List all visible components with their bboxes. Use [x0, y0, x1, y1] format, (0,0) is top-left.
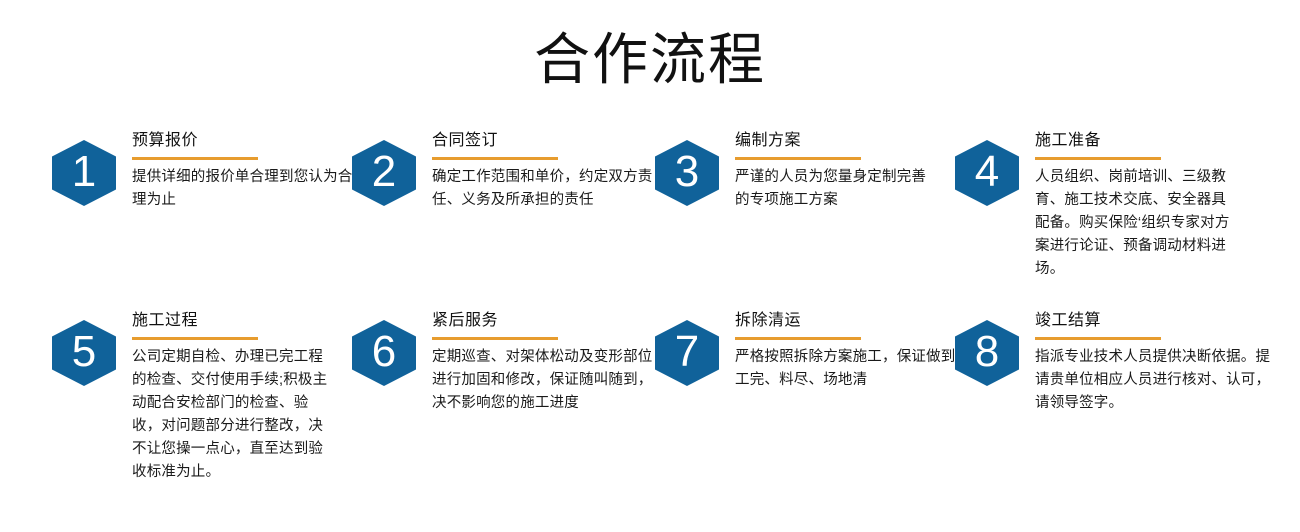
step-title-6: 紧后服务 — [432, 310, 642, 332]
step-hexagon-badge-7: 7 — [655, 320, 719, 386]
step-item-8[interactable]: 8 竣工结算 指派专业技术人员提供决断依据。提请贵单位相应人员进行核对、认可，请… — [955, 310, 1255, 415]
step-number-1: 1 — [52, 140, 116, 206]
step-body-8: 竣工结算 指派专业技术人员提供决断依据。提请贵单位相应人员进行核对、认可，请领导… — [1035, 310, 1255, 415]
step-number-4: 4 — [955, 140, 1019, 206]
step-underline-8 — [1035, 337, 1161, 340]
step-underline-2 — [432, 157, 558, 160]
step-description-4: 人员组织、岗前培训、三级教育、施工技术交底、安全器具配备。购买保险‘组织专家对方… — [1035, 166, 1239, 281]
step-hexagon-badge-3: 3 — [655, 140, 719, 206]
step-body-6: 紧后服务 定期巡查、对架体松动及变形部位进行加固和修改，保证随叫随到，决不影响您… — [432, 310, 642, 415]
step-hexagon-badge-2: 2 — [352, 140, 416, 206]
step-underline-3 — [735, 157, 861, 160]
step-body-3: 编制方案 严谨的人员为您量身定制完善的专项施工方案 — [735, 130, 945, 212]
step-underline-1 — [132, 157, 258, 160]
step-item-3[interactable]: 3 编制方案 严谨的人员为您量身定制完善的专项施工方案 — [655, 130, 945, 212]
step-description-6: 定期巡查、对架体松动及变形部位进行加固和修改，保证随叫随到，决不影响您的施工进度 — [432, 346, 660, 415]
step-underline-6 — [432, 337, 558, 340]
page-title: 合作流程 — [0, 24, 1300, 96]
step-description-2: 确定工作范围和单价，约定双方责任、义务及所承担的责任 — [432, 166, 660, 212]
step-number-3: 3 — [655, 140, 719, 206]
step-body-5: 施工过程 公司定期自检、办理已完工程的检查、交付使用手续;积极主动配合安检部门的… — [132, 310, 342, 484]
step-item-5[interactable]: 5 施工过程 公司定期自检、办理已完工程的检查、交付使用手续;积极主动配合安检部… — [52, 310, 342, 484]
step-hexagon-badge-6: 6 — [352, 320, 416, 386]
step-number-5: 5 — [52, 320, 116, 386]
step-description-1: 提供详细的报价单合理到您认为合理为止 — [132, 166, 360, 212]
step-title-7: 拆除清运 — [735, 310, 945, 332]
step-hexagon-badge-4: 4 — [955, 140, 1019, 206]
step-title-2: 合同签订 — [432, 130, 642, 152]
step-underline-4 — [1035, 157, 1161, 160]
step-number-6: 6 — [352, 320, 416, 386]
step-item-1[interactable]: 1 预算报价 提供详细的报价单合理到您认为合理为止 — [52, 130, 342, 212]
step-item-6[interactable]: 6 紧后服务 定期巡查、对架体松动及变形部位进行加固和修改，保证随叫随到，决不影… — [352, 310, 642, 415]
step-title-3: 编制方案 — [735, 130, 945, 152]
step-hexagon-badge-8: 8 — [955, 320, 1019, 386]
process-steps: 1 预算报价 提供详细的报价单合理到您认为合理为止 2 合同签订 确定工作范围和… — [0, 130, 1300, 510]
step-title-1: 预算报价 — [132, 130, 342, 152]
step-description-8: 指派专业技术人员提供决断依据。提请贵单位相应人员进行核对、认可，请领导签字。 — [1035, 346, 1273, 415]
step-body-2: 合同签订 确定工作范围和单价，约定双方责任、义务及所承担的责任 — [432, 130, 642, 212]
step-number-8: 8 — [955, 320, 1019, 386]
step-row-2: 5 施工过程 公司定期自检、办理已完工程的检查、交付使用手续;积极主动配合安检部… — [0, 310, 1300, 510]
step-description-5: 公司定期自检、办理已完工程的检查、交付使用手续;积极主动配合安检部门的检查、验收… — [132, 346, 336, 484]
step-hexagon-badge-1: 1 — [52, 140, 116, 206]
step-underline-5 — [132, 337, 258, 340]
step-item-2[interactable]: 2 合同签订 确定工作范围和单价，约定双方责任、义务及所承担的责任 — [352, 130, 642, 212]
step-hexagon-badge-5: 5 — [52, 320, 116, 386]
step-body-4: 施工准备 人员组织、岗前培训、三级教育、施工技术交底、安全器具配备。购买保险‘组… — [1035, 130, 1255, 281]
step-row-1: 1 预算报价 提供详细的报价单合理到您认为合理为止 2 合同签订 确定工作范围和… — [0, 130, 1300, 310]
step-title-5: 施工过程 — [132, 310, 342, 332]
step-description-7: 严格按照拆除方案施工，保证做到工完、料尽、场地清 — [735, 346, 963, 392]
step-number-7: 7 — [655, 320, 719, 386]
step-title-8: 竣工结算 — [1035, 310, 1255, 332]
step-body-7: 拆除清运 严格按照拆除方案施工，保证做到工完、料尽、场地清 — [735, 310, 945, 392]
step-number-2: 2 — [352, 140, 416, 206]
step-item-4[interactable]: 4 施工准备 人员组织、岗前培训、三级教育、施工技术交底、安全器具配备。购买保险… — [955, 130, 1255, 281]
step-body-1: 预算报价 提供详细的报价单合理到您认为合理为止 — [132, 130, 342, 212]
step-item-7[interactable]: 7 拆除清运 严格按照拆除方案施工，保证做到工完、料尽、场地清 — [655, 310, 945, 392]
step-title-4: 施工准备 — [1035, 130, 1255, 152]
step-underline-7 — [735, 337, 861, 340]
step-description-3: 严谨的人员为您量身定制完善的专项施工方案 — [735, 166, 939, 212]
